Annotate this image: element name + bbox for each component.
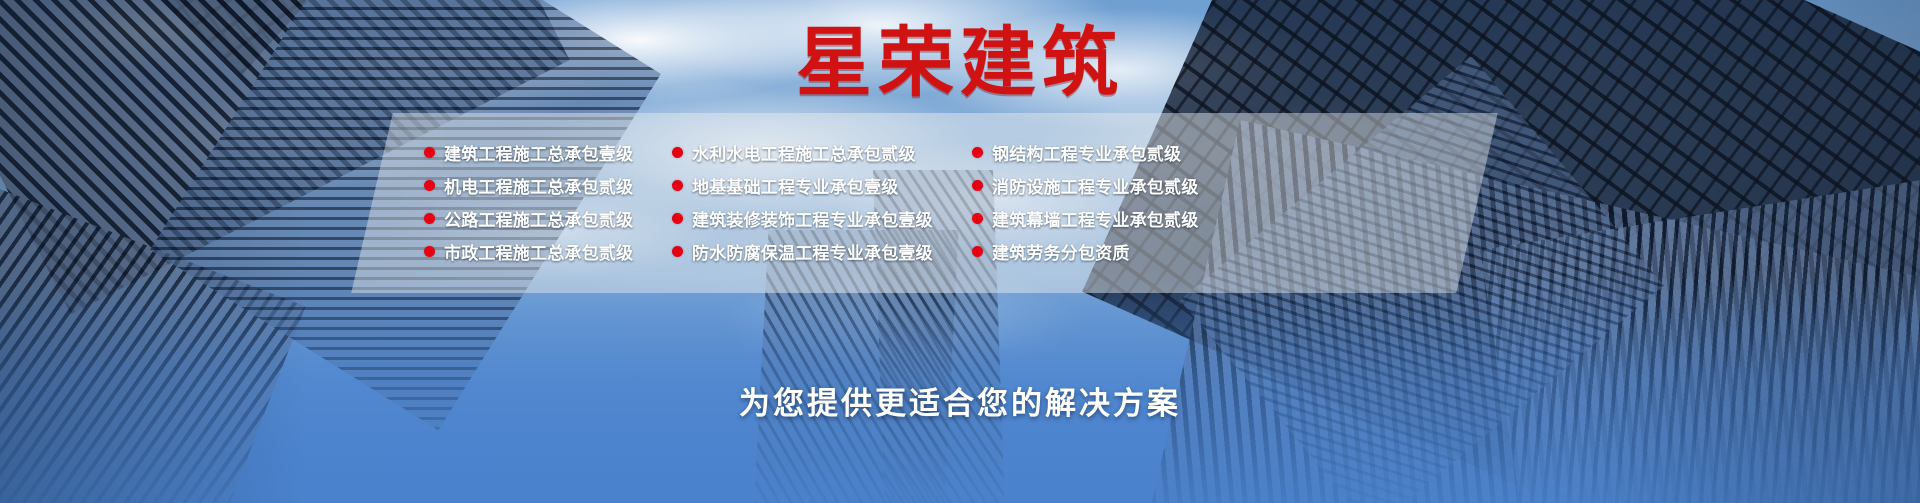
qualification-label: 钢结构工程专业承包贰级	[992, 140, 1181, 165]
qualification-label: 机电工程施工总承包贰级	[444, 173, 633, 198]
qualification-label: 地基基础工程专业承包壹级	[692, 173, 898, 198]
bullet-dot-icon	[424, 246, 435, 257]
bullet-dot-icon	[424, 180, 435, 191]
qualification-item[interactable]: 建筑幕墙工程专业承包贰级	[972, 202, 1464, 235]
bullet-dot-icon	[672, 213, 683, 224]
bullet-dot-icon	[672, 180, 683, 191]
qualification-label: 公路工程施工总承包贰级	[444, 206, 633, 231]
qualification-item[interactable]: 公路工程施工总承包贰级	[424, 202, 642, 235]
qualification-label: 消防设施工程专业承包贰级	[992, 173, 1198, 198]
bullet-dot-icon	[972, 147, 983, 158]
bullet-dot-icon	[424, 147, 435, 158]
qualification-label: 建筑工程施工总承包壹级	[444, 140, 633, 165]
bullet-dot-icon	[972, 246, 983, 257]
qualification-item[interactable]: 防水防腐保温工程专业承包壹级	[672, 235, 942, 268]
bullet-dot-icon	[672, 246, 683, 257]
qualification-label: 市政工程施工总承包贰级	[444, 239, 633, 264]
qualification-label: 建筑装修装饰工程专业承包壹级	[692, 206, 933, 231]
banner-title: 星荣建筑	[0, 26, 1920, 102]
qualification-item[interactable]: 机电工程施工总承包贰级	[424, 169, 642, 202]
qualification-list: 建筑工程施工总承包壹级 水利水电工程施工总承包贰级 钢结构工程专业承包贰级 机电…	[424, 136, 1464, 276]
qualification-item[interactable]: 地基基础工程专业承包壹级	[672, 169, 942, 202]
qualification-label: 水利水电工程施工总承包贰级	[692, 140, 916, 165]
qualification-item[interactable]: 建筑工程施工总承包壹级	[424, 136, 642, 169]
banner-tagline: 为您提供更适合您的解决方案	[0, 378, 1920, 423]
qualification-label: 防水防腐保温工程专业承包壹级	[692, 239, 933, 264]
bullet-dot-icon	[972, 180, 983, 191]
qualification-item[interactable]: 建筑装修装饰工程专业承包壹级	[672, 202, 942, 235]
bullet-dot-icon	[672, 147, 683, 158]
qualification-item[interactable]: 水利水电工程施工总承包贰级	[672, 136, 942, 169]
bullet-dot-icon	[972, 213, 983, 224]
qualification-item[interactable]: 消防设施工程专业承包贰级	[972, 169, 1464, 202]
qualification-item[interactable]: 市政工程施工总承包贰级	[424, 235, 642, 268]
hero-banner: 星荣建筑 建筑工程施工总承包壹级 水利水电工程施工总承包贰级 钢结构工程专业承包…	[0, 0, 1920, 503]
qualification-item[interactable]: 钢结构工程专业承包贰级	[972, 136, 1464, 169]
bullet-dot-icon	[424, 213, 435, 224]
qualification-label: 建筑幕墙工程专业承包贰级	[992, 206, 1198, 231]
qualification-item[interactable]: 建筑劳务分包资质	[972, 235, 1464, 268]
qualification-label: 建筑劳务分包资质	[992, 239, 1130, 264]
